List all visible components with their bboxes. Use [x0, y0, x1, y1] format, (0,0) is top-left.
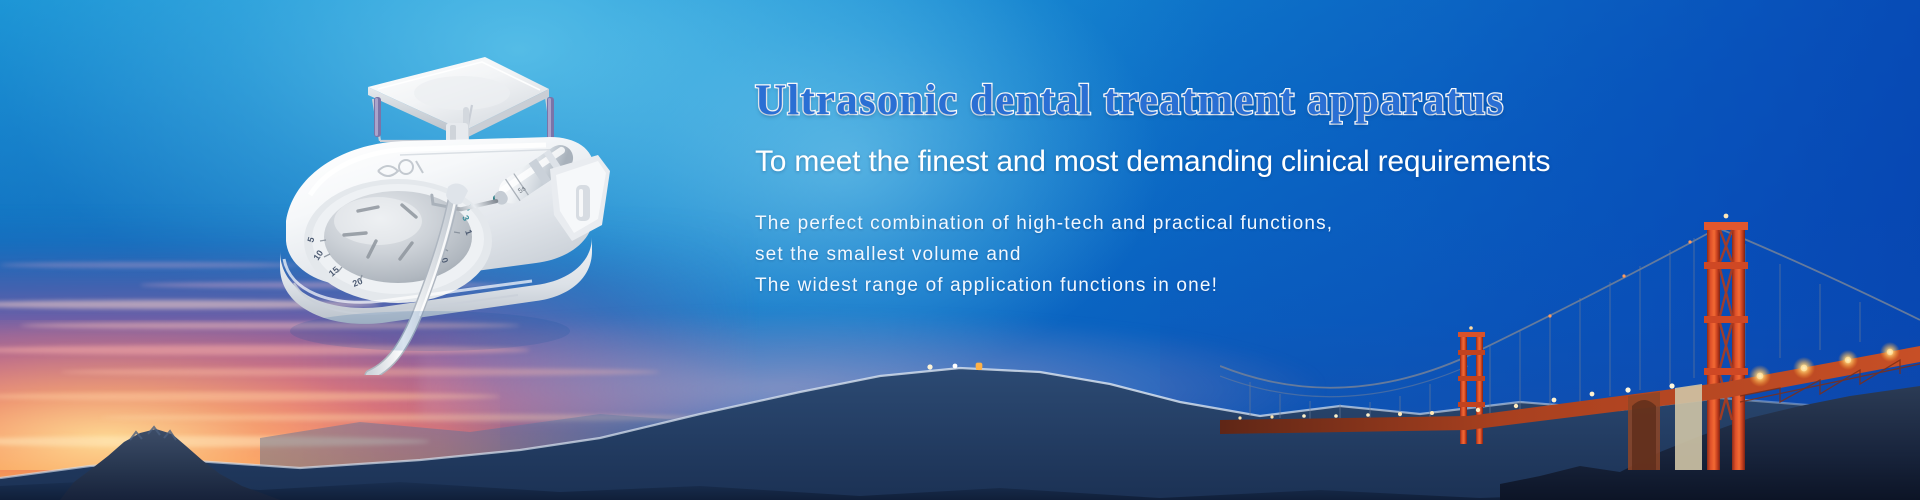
rocky-outcrop-left: [60, 420, 280, 500]
banner-body-copy: The perfect combination of high-tech and…: [755, 209, 1575, 301]
bridge-tower-near: [1704, 214, 1748, 470]
body-line-3: The widest range of application function…: [755, 271, 1575, 302]
promo-banner: 5 10 15 20 0 1 3 5: [0, 0, 1920, 500]
body-line-2: set the smallest volume and: [755, 240, 1575, 271]
body-line-1: The perfect combination of high-tech and…: [755, 209, 1575, 240]
banner-subtitle: To meet the finest and most demanding cl…: [755, 145, 1575, 179]
page-title: Ultrasonic dental treatment apparatus: [755, 78, 1575, 123]
ultrasonic-dental-scaler-product: 5 10 15 20 0 1 3 5: [250, 45, 630, 375]
banner-copy-block: Ultrasonic dental treatment apparatus To…: [755, 78, 1575, 301]
